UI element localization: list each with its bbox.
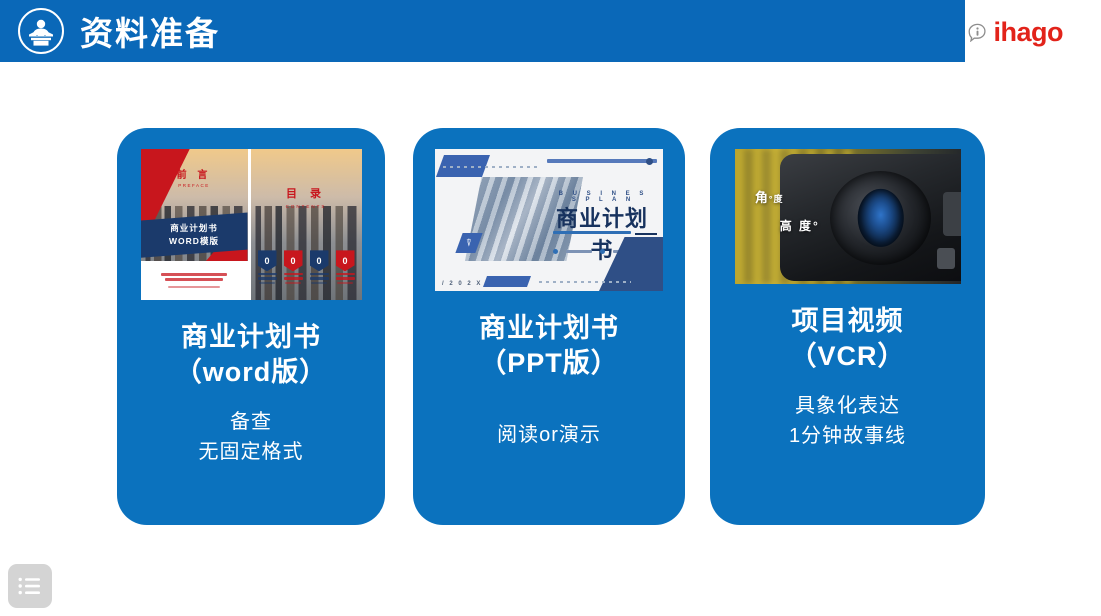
doc-preface-heading: 前 言: [141, 166, 248, 181]
slide-subtitle: [553, 231, 631, 234]
camera-overlay-text-2: 高 度°: [780, 217, 820, 234]
card-title: 项目视频 （VCR）: [789, 304, 905, 373]
doc-page-contents: 目 录 CONTENTS 0 0 0 0: [251, 149, 362, 300]
card-subtitle-line1: 具象化表达: [789, 391, 906, 421]
card-subtitle-line2: 无固定格式: [199, 437, 304, 467]
card-subtitle-line2: 1分钟故事线: [789, 421, 906, 451]
card-project-video[interactable]: 角°度 高 度° 项目视频 （VCR） 具象化表达 1分钟故事线: [710, 128, 985, 525]
page-title: 资料准备: [80, 7, 220, 55]
info-bubble-icon: [968, 23, 987, 42]
doc-footer-text: [141, 261, 248, 300]
toc-badge: 0: [284, 250, 303, 271]
card-subtitle-line1: 阅读or演示: [497, 420, 601, 450]
card-title: 商业计划书 （word版）: [175, 320, 328, 389]
thumbnail-camera-photo: 角°度 高 度°: [735, 149, 961, 284]
card-ppt-plan[interactable]: ⍒ B U S I N E S S P L A N 商业计划书 / 2 0 2 …: [413, 128, 685, 525]
list-menu-button[interactable]: [8, 564, 52, 608]
doc-contents-heading: 目 录: [251, 185, 362, 201]
podium-speaker-icon: [18, 8, 64, 54]
toc-entry: [336, 273, 355, 285]
toc-entry: [310, 273, 329, 285]
card-subtitle: 具象化表达 1分钟故事线: [789, 391, 906, 451]
slide-header: 资料准备: [0, 0, 965, 62]
doc-preface-heading-en: PREFACE: [141, 183, 248, 188]
toc-badge: 0: [258, 250, 277, 271]
camera-overlay-text-1: 角°度: [755, 187, 784, 206]
card-title-line1: 项目视频: [789, 304, 905, 339]
toc-badge: 0: [336, 250, 355, 271]
brand-name: ihago: [994, 19, 1064, 46]
list-menu-icon: [18, 577, 42, 595]
card-subtitle: 阅读or演示: [497, 420, 601, 450]
slide-year: / 2 0 2 X: [442, 281, 482, 287]
toc-entry: [258, 273, 277, 285]
card-title-line1: 商业计划书: [479, 311, 619, 346]
toc-entry: [284, 273, 303, 285]
card-word-plan[interactable]: 前 言 PREFACE 商业计划书 WORD模版 目 录 CON: [117, 128, 385, 525]
doc-contents-heading-en: CONTENTS: [251, 204, 362, 209]
thumbnail-word-document: 前 言 PREFACE 商业计划书 WORD模版 目 录 CON: [141, 149, 362, 300]
toc-badge: 0: [310, 250, 329, 271]
card-title: 商业计划书 （PPT版）: [479, 311, 619, 380]
thumbnail-ppt-slide: ⍒ B U S I N E S S P L A N 商业计划书 / 2 0 2 …: [435, 149, 663, 291]
brand-logo: ihago: [968, 19, 1064, 46]
card-subtitle: 备查 无固定格式: [199, 407, 304, 467]
card-title-line1: 商业计划书: [175, 320, 328, 355]
slide-dot-icon: [646, 158, 653, 165]
card-subtitle-line1: 备查: [199, 407, 304, 437]
doc-band-line1: 商业计划书: [170, 222, 218, 235]
card-title-line2: （word版）: [175, 355, 328, 390]
card-title-line2: （VCR）: [789, 339, 905, 374]
doc-band-line2: WORD模版: [169, 235, 219, 248]
cards-area: 前 言 PREFACE 商业计划书 WORD模版 目 录 CON: [0, 62, 1101, 616]
doc-page-preface: 前 言 PREFACE 商业计划书 WORD模版: [141, 149, 251, 300]
card-title-line2: （PPT版）: [479, 346, 619, 381]
